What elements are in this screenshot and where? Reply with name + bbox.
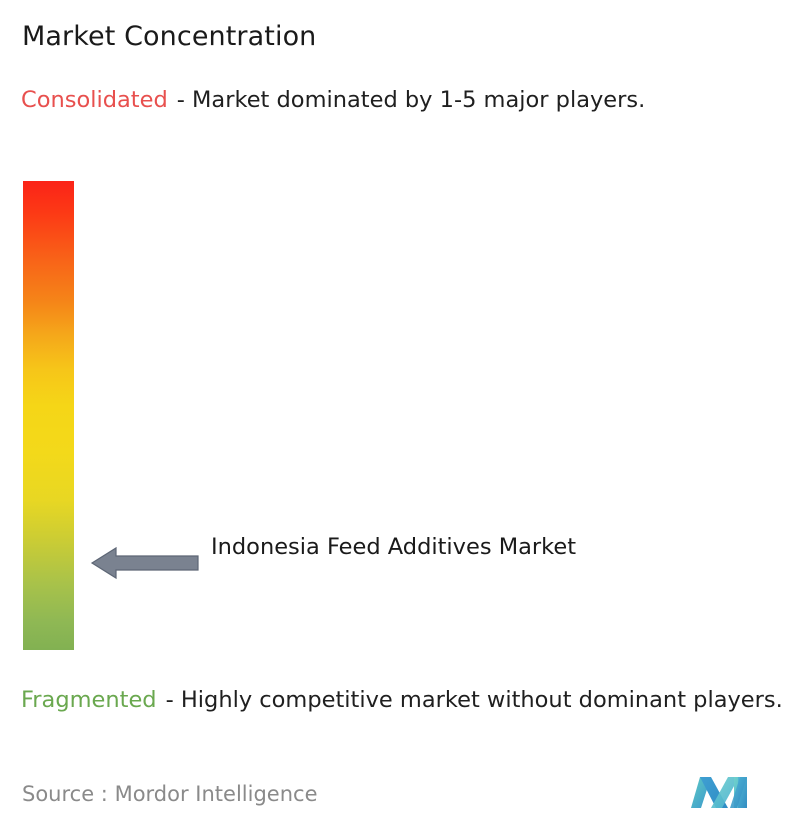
source-label: Source : bbox=[22, 782, 108, 806]
source-line: Source : Mordor Intelligence bbox=[22, 780, 317, 808]
legend-consolidated-description: - Market dominated by 1-5 major players. bbox=[177, 87, 646, 113]
concentration-gradient-bar bbox=[23, 181, 74, 650]
mordor-intelligence-logo-icon bbox=[690, 772, 762, 812]
legend-fragmented: Fragmented- Highly competitive market wi… bbox=[21, 685, 793, 716]
legend-fragmented-keyword: Fragmented bbox=[21, 687, 157, 713]
legend-consolidated-keyword: Consolidated bbox=[21, 87, 168, 113]
market-pointer-label: Indonesia Feed Additives Market bbox=[211, 530, 691, 564]
legend-consolidated: Consolidated- Market dominated by 1-5 ma… bbox=[21, 85, 781, 116]
page-title: Market Concentration bbox=[22, 20, 316, 54]
market-concentration-chart: Market Concentration Consolidated- Marke… bbox=[0, 0, 796, 834]
source-value: Mordor Intelligence bbox=[115, 782, 318, 806]
arrow-left-icon bbox=[90, 545, 200, 581]
legend-fragmented-description: - Highly competitive market without domi… bbox=[166, 687, 783, 713]
